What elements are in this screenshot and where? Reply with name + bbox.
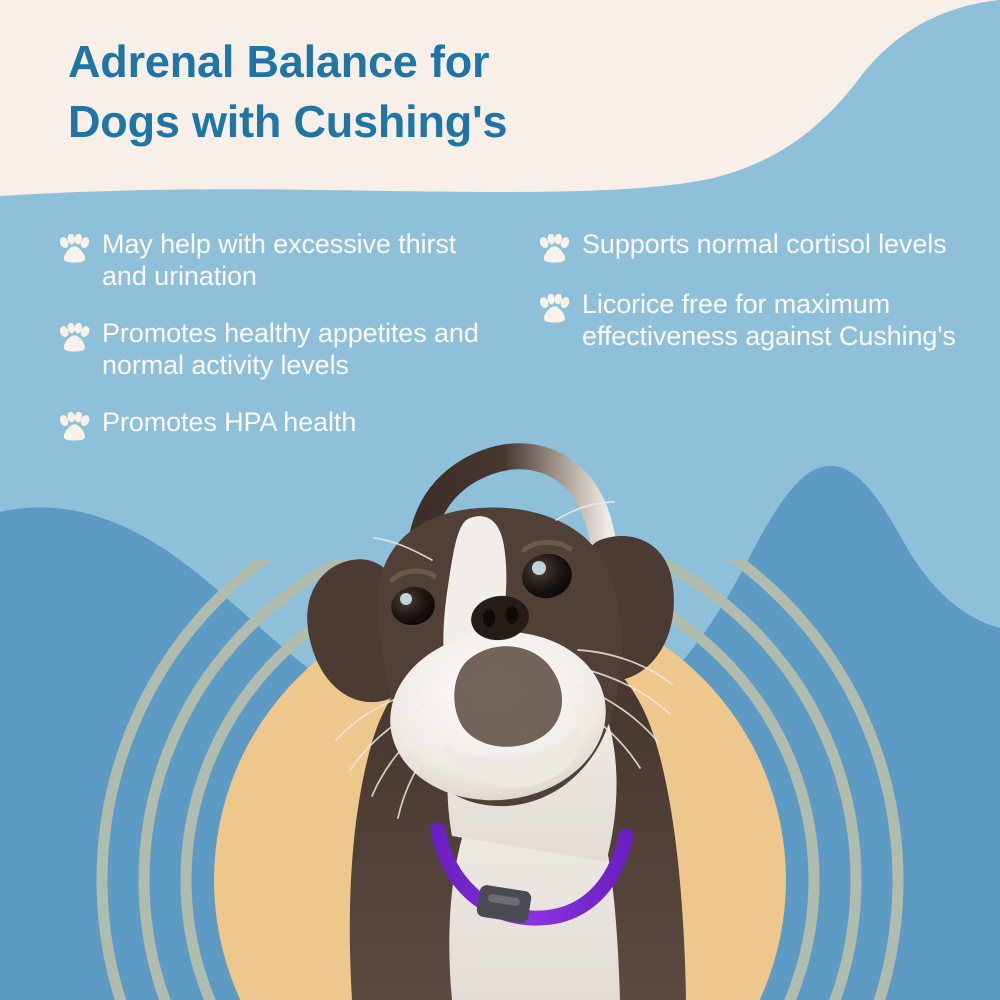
benefit-item[interactable]: Promotes healthy appetites and normal ac… [58,317,520,382]
benefit-item[interactable]: May help with excessive thirst and urina… [58,228,520,293]
benefit-item[interactable]: Supports normal cortisol levels [538,228,1000,264]
benefit-text: Promotes healthy appetites and normal ac… [102,317,502,382]
paw-print-icon [58,234,90,264]
benefit-text: Promotes HPA health [102,406,356,438]
paw-print-icon [538,234,570,264]
benefit-text: May help with excessive thirst and urina… [102,228,502,293]
benefit-item[interactable]: Licorice free for maximum effectiveness … [538,288,1000,353]
benefit-text: Supports normal cortisol levels [582,228,947,260]
page-title: Adrenal Balance for Dogs with Cushing's [68,32,688,152]
benefit-item[interactable]: Promotes HPA health [58,406,520,442]
benefits-column-right: Supports normal cortisol levels Licorice… [538,228,1000,518]
infographic-canvas: Adrenal Balance for Dogs with Cushing's … [0,0,1000,1000]
benefit-text: Licorice free for maximum effectiveness … [582,288,962,353]
header-block: Adrenal Balance for Dogs with Cushing's [0,0,1000,230]
benefits-column-left: May help with excessive thirst and urina… [58,228,520,518]
paw-print-icon [538,294,570,324]
benefits-section: May help with excessive thirst and urina… [0,228,1000,518]
paw-print-icon [58,412,90,442]
paw-print-icon [58,323,90,353]
